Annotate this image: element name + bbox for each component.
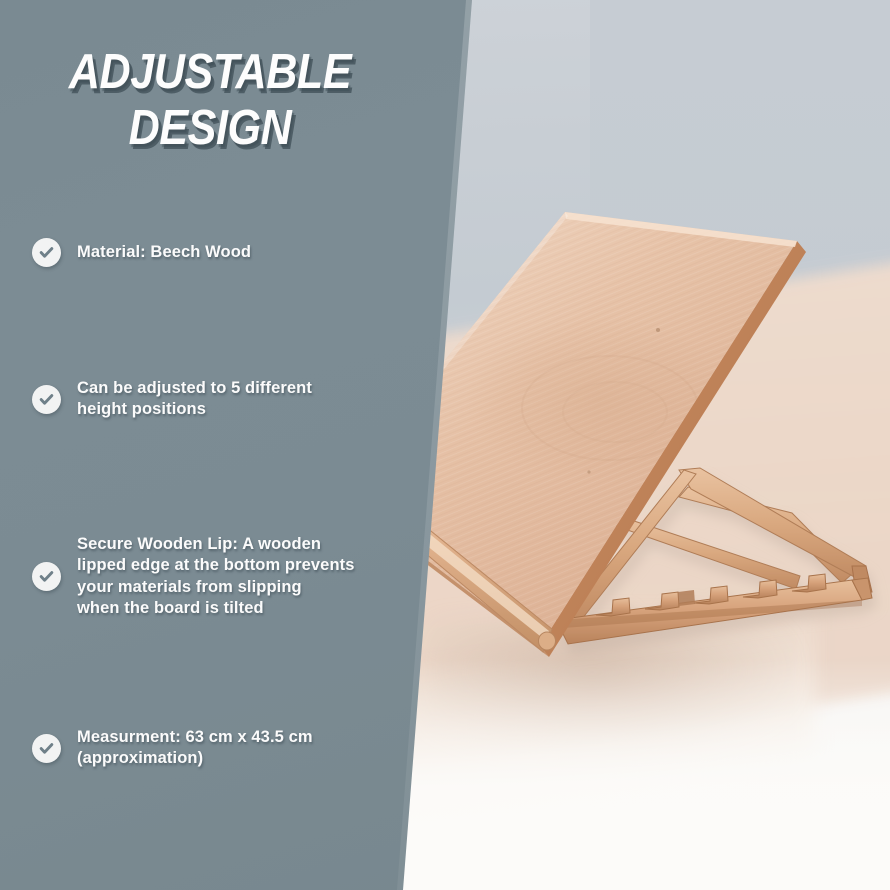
frame-top-bar xyxy=(679,468,866,580)
feature-item-measurement: Measurment: 63 cm x 43.5 cm (approximati… xyxy=(32,727,402,769)
feature-line: height positions xyxy=(77,400,206,418)
feature-text: Can be adjusted to 5 different height po… xyxy=(77,378,312,420)
board-surface-speck xyxy=(656,328,660,332)
feature-line: when the board is tilted xyxy=(77,599,264,617)
feature-text: Material: Beech Wood xyxy=(77,242,251,263)
check-circle-icon xyxy=(32,734,61,763)
feature-item-height-positions: Can be adjusted to 5 different height po… xyxy=(32,378,402,420)
check-circle-icon xyxy=(32,238,61,267)
feature-list: Material: Beech Wood Can be adjusted to … xyxy=(0,0,420,890)
feature-item-wooden-lip: Secure Wooden Lip: A wooden lipped edge … xyxy=(32,534,412,620)
rail-engaged-peg xyxy=(678,590,695,606)
feature-line: Secure Wooden Lip: A wooden xyxy=(77,535,321,553)
lip-rail-right-cap xyxy=(539,632,556,650)
check-circle-icon xyxy=(32,385,61,414)
check-circle-icon xyxy=(32,562,61,591)
feature-line: Measurment: 63 cm x 43.5 cm xyxy=(77,728,313,746)
feature-line: your materials from slipping xyxy=(77,578,302,596)
infographic-canvas: ADJUSTABLE DESIGN Material: Beech Wood C… xyxy=(0,0,890,890)
notch-1 xyxy=(596,598,630,616)
feature-line: Material: Beech Wood xyxy=(77,243,251,261)
feature-text: Secure Wooden Lip: A wooden lipped edge … xyxy=(77,534,355,620)
feature-item-material: Material: Beech Wood xyxy=(32,238,402,267)
feature-line: lipped edge at the bottom prevents xyxy=(77,556,355,574)
feature-text: Measurment: 63 cm x 43.5 cm (approximati… xyxy=(77,727,313,769)
feature-line: Can be adjusted to 5 different xyxy=(77,379,312,397)
feature-line: (approximation) xyxy=(77,749,203,767)
